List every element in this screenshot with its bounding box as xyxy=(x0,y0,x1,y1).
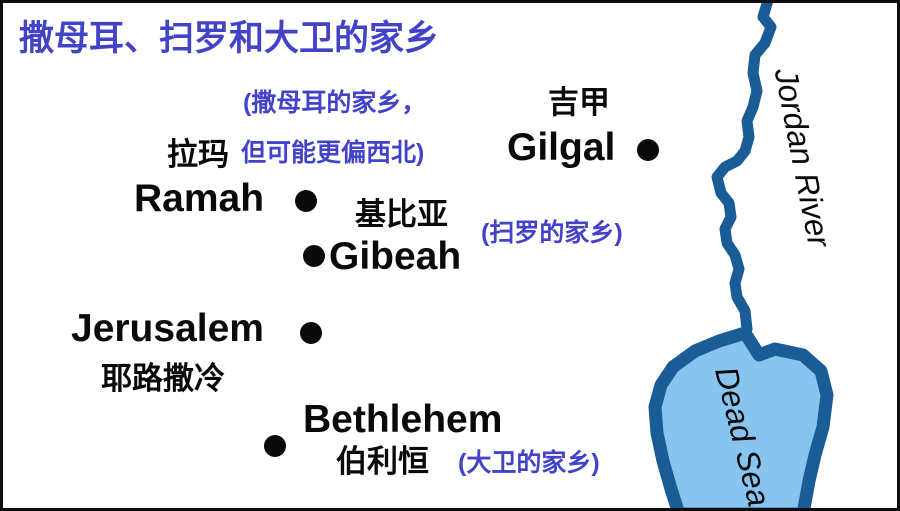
map-figure: 撒母耳、扫罗和大卫的家乡 (撒母耳的家乡， 但可能更偏西北) 拉玛 Ramah … xyxy=(0,0,900,511)
city-dot-bethlehem[interactable] xyxy=(264,435,286,457)
city-dot-gilgal[interactable] xyxy=(637,139,659,161)
city-dot-ramah[interactable] xyxy=(295,190,317,212)
city-label-ramah-en: Ramah xyxy=(134,179,264,218)
annotation-samuel-line2: 但可能更偏西北) xyxy=(241,141,424,166)
city-label-jerusalem-en: Jerusalem xyxy=(71,309,264,348)
city-dot-gibeah[interactable] xyxy=(303,245,325,267)
annotation-david: (大卫的家乡) xyxy=(458,451,600,476)
annotation-saul: (扫罗的家乡) xyxy=(481,221,623,246)
city-dot-jerusalem[interactable] xyxy=(300,322,322,344)
jordan-river-shape xyxy=(717,3,771,329)
city-label-bethlehem-en: Bethlehem xyxy=(303,400,502,439)
city-label-ramah-cn: 拉玛 xyxy=(167,139,229,170)
city-label-gilgal-cn: 吉甲 xyxy=(548,87,610,118)
city-label-bethlehem-cn: 伯利恒 xyxy=(336,446,429,477)
page-title: 撒母耳、扫罗和大卫的家乡 xyxy=(19,21,439,56)
city-label-gibeah-en: Gibeah xyxy=(329,237,461,276)
annotation-samuel-line1: (撒母耳的家乡， xyxy=(243,91,426,116)
city-label-gilgal-en: Gilgal xyxy=(507,128,615,167)
city-label-gibeah-cn: 基比亚 xyxy=(355,199,448,230)
city-label-jerusalem-cn: 耶路撒冷 xyxy=(101,363,225,394)
